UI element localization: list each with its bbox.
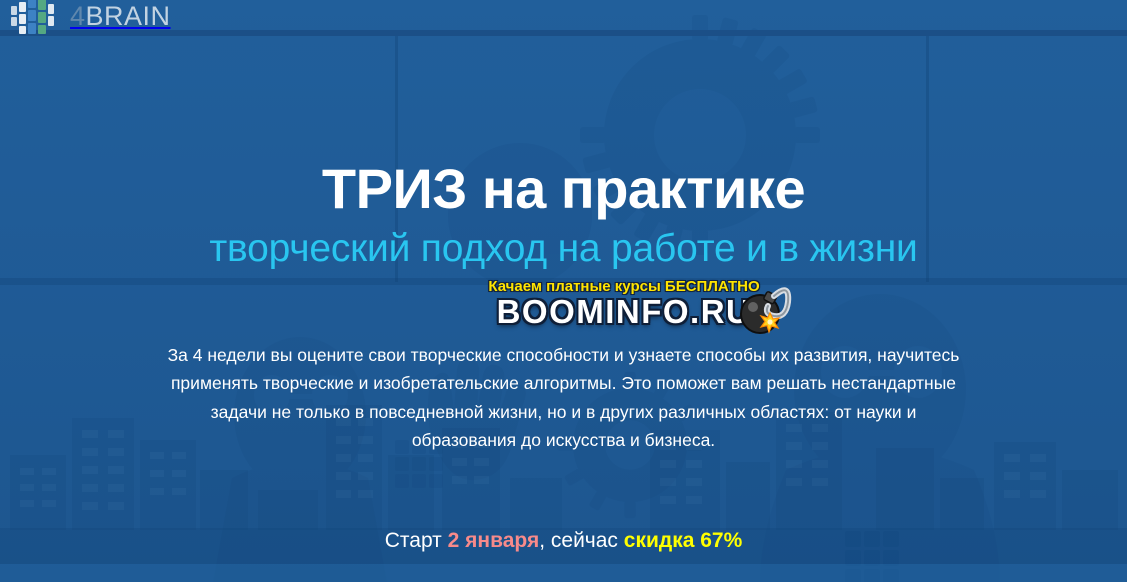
start-date: 2 января	[448, 529, 540, 552]
start-and-discount-line: Старт 2 января, сейчас скидка 67%	[0, 529, 1127, 553]
hero-section: ТРИЗ на практике творческий подход на ра…	[0, 0, 1127, 582]
site-header: 4BRAIN	[0, 0, 171, 30]
page-subtitle: творческий подход на работе и в жизни	[0, 228, 1127, 271]
logo-wordmark: 4BRAIN	[70, 3, 171, 30]
start-prefix-text: Старт	[385, 529, 448, 552]
page-title: ТРИЗ на практике	[0, 160, 1127, 219]
logo-word: BRAIN	[86, 1, 171, 31]
landing-page: 4BRAIN ТРИЗ на практике творческий подхо…	[0, 0, 1127, 582]
logo-number: 4	[70, 1, 86, 31]
logo-link[interactable]: 4BRAIN	[10, 0, 171, 38]
cube-logo-icon	[10, 0, 56, 38]
discount-badge: скидка 67%	[624, 529, 742, 552]
course-description: За 4 недели вы оцените свои творческие с…	[166, 341, 961, 454]
start-middle-text: , сейчас	[539, 529, 624, 552]
